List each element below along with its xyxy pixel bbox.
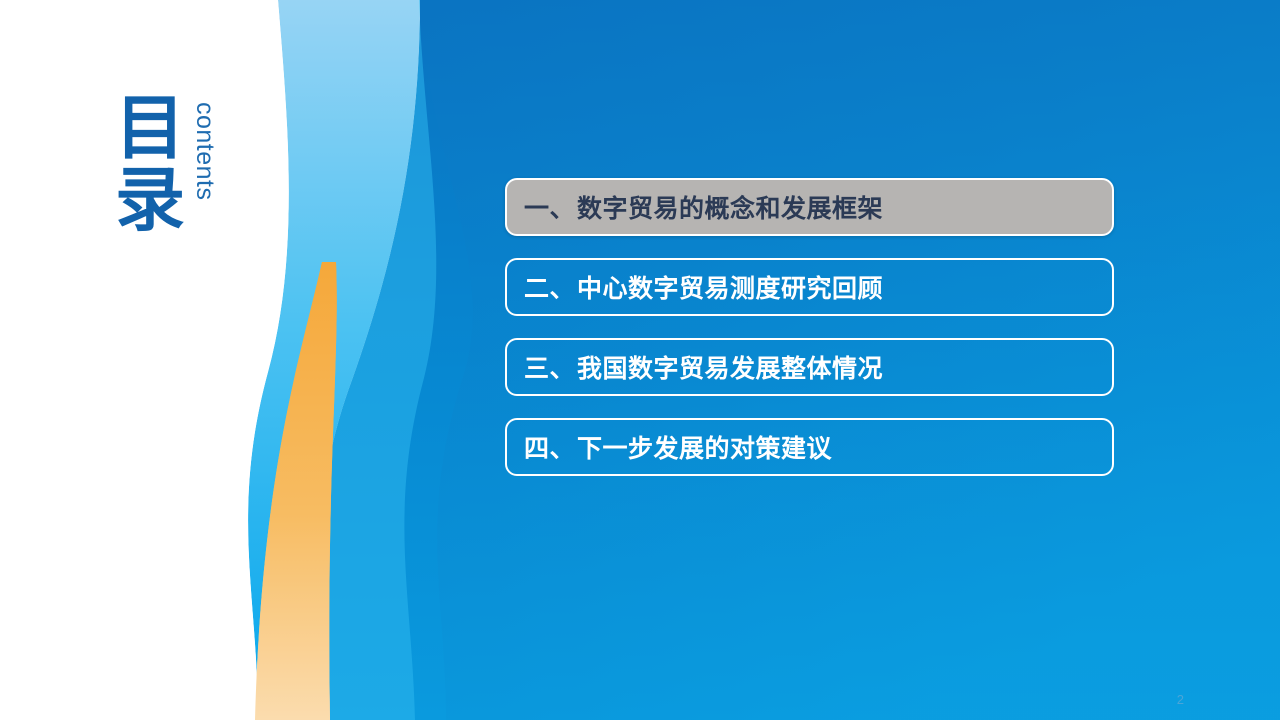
toc-item-4[interactable]: 四、 下一步发展的对策建议 xyxy=(505,418,1114,476)
page-title-cn-line2: 录 xyxy=(104,164,196,236)
slide-contents-page: 目 录 contents 一、 数字贸易的概念和发展框架 二、 中心数字贸易测度… xyxy=(0,0,1280,720)
toc-item-3-label: 我国数字贸易发展整体情况 xyxy=(577,349,883,385)
toc-item-1-number: 一、 xyxy=(524,189,575,225)
toc-item-2-label: 中心数字贸易测度研究回顾 xyxy=(577,269,883,305)
toc-item-1[interactable]: 一、 数字贸易的概念和发展框架 xyxy=(505,178,1114,236)
toc-item-4-label: 下一步发展的对策建议 xyxy=(577,429,832,465)
page-number: 2 xyxy=(1177,692,1184,707)
page-title-en: contents xyxy=(192,102,218,201)
toc-item-3-number: 三、 xyxy=(524,349,575,385)
page-title: 目 录 contents xyxy=(104,92,254,292)
toc-item-4-number: 四、 xyxy=(524,429,575,465)
toc-item-3[interactable]: 三、 我国数字贸易发展整体情况 xyxy=(505,338,1114,396)
page-title-cn-line1: 目 xyxy=(104,92,196,164)
toc-item-2[interactable]: 二、 中心数字贸易测度研究回顾 xyxy=(505,258,1114,316)
page-title-cn: 目 录 xyxy=(104,92,196,236)
toc-item-1-label: 数字贸易的概念和发展框架 xyxy=(577,189,883,225)
table-of-contents: 一、 数字贸易的概念和发展框架 二、 中心数字贸易测度研究回顾 三、 我国数字贸… xyxy=(505,178,1114,498)
toc-item-2-number: 二、 xyxy=(524,269,575,305)
